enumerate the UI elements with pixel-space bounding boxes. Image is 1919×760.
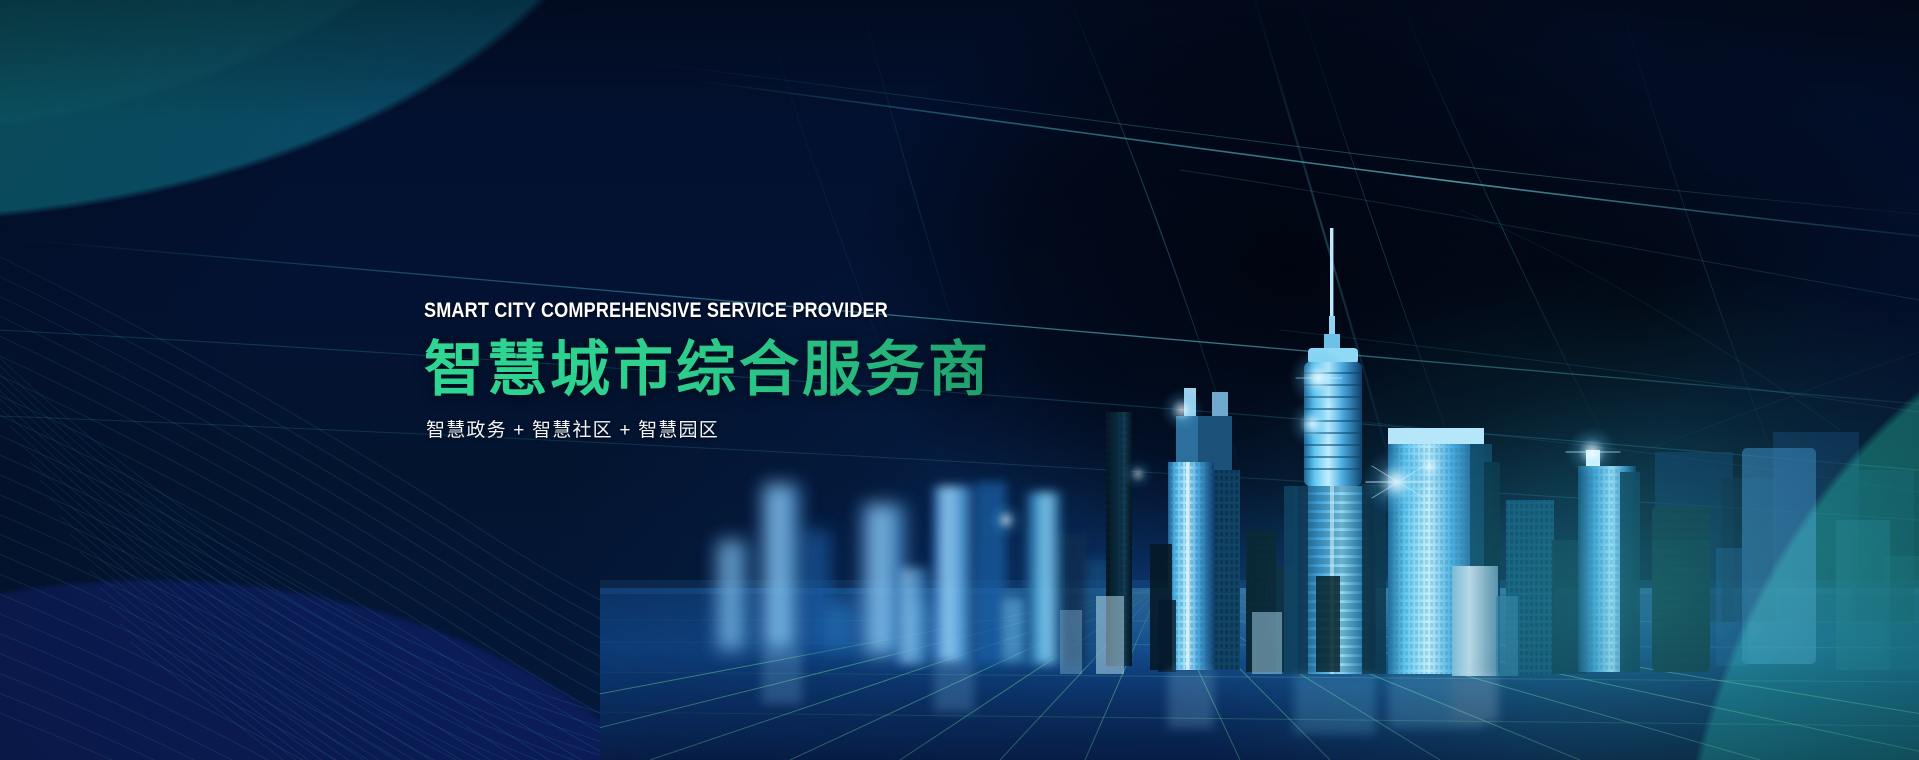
hero-eyebrow-english: SMART CITY COMPREHENSIVE SERVICE PROVIDE… [424, 300, 1078, 321]
smart-city-hero-banner: SMART CITY COMPREHENSIVE SERVICE PROVIDE… [0, 0, 1919, 760]
hero-main-title: 智慧城市综合服务商 [424, 338, 1184, 402]
hero-text-block: SMART CITY COMPREHENSIVE SERVICE PROVIDE… [424, 300, 1184, 440]
hero-subtitle: 智慧政务 + 智慧社区 + 智慧园区 [426, 421, 1184, 440]
